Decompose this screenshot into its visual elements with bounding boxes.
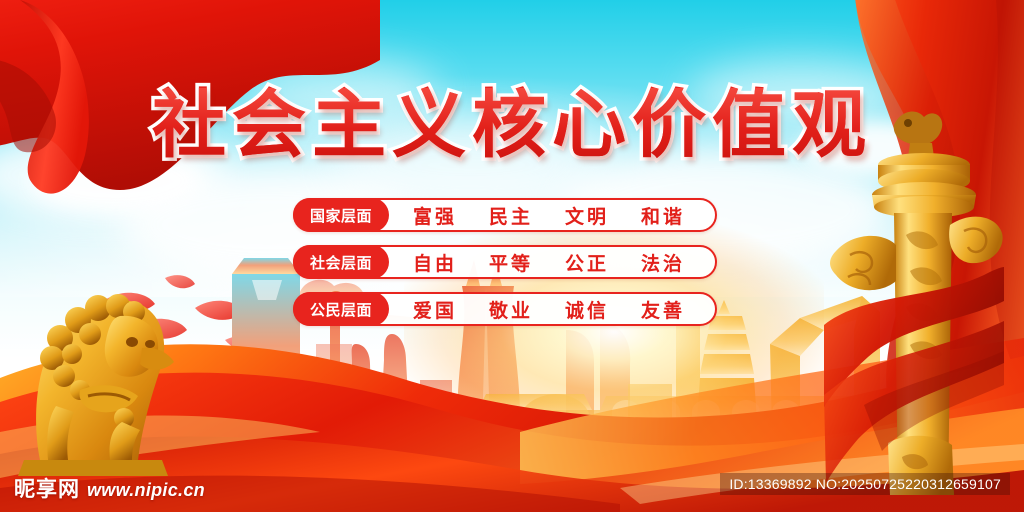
value-row-label: 公民层面 <box>293 292 389 326</box>
value-row-social[interactable]: 社会层面 自由 平等 公正 法治 <box>293 245 717 279</box>
value-item: 民主 <box>489 202 533 229</box>
guardian-lion-statue-icon <box>2 250 212 480</box>
value-item: 友善 <box>641 296 685 323</box>
core-values-list: 国家层面 富强 民主 文明 和谐 社会层面 自由 平等 公正 法治 公民层面 爱… <box>293 198 717 326</box>
value-item: 诚信 <box>565 296 609 323</box>
value-item: 自由 <box>413 249 457 276</box>
value-item: 爱国 <box>413 296 457 323</box>
value-item: 公正 <box>565 249 609 276</box>
value-row-citizen[interactable]: 公民层面 爱国 敬业 诚信 友善 <box>293 292 717 326</box>
watermark-brand: 昵享网 www.nipic.cn <box>14 473 205 503</box>
page-title: 社会主义核心价值观 <box>0 88 1024 162</box>
value-row-label: 社会层面 <box>293 245 389 279</box>
watermark-bar: 昵享网 www.nipic.cn ID:13369892 NO:20250725… <box>0 466 1024 512</box>
asset-id-text: ID:13369892 NO:20250725220312659107 <box>720 473 1010 495</box>
value-item: 和谐 <box>641 202 685 229</box>
value-item: 法治 <box>641 249 685 276</box>
poster-canvas: 社会主义核心价值观 社会主义核心价值观 国家层面 富强 民主 文明 和谐 社会层… <box>0 0 1024 512</box>
value-row-label: 国家层面 <box>293 198 389 232</box>
value-row-national[interactable]: 国家层面 富强 民主 文明 和谐 <box>293 198 717 232</box>
site-url: www.nipic.cn <box>87 480 205 501</box>
value-items: 富强 民主 文明 和谐 <box>391 202 715 229</box>
value-item: 文明 <box>565 202 609 229</box>
value-items: 爱国 敬业 诚信 友善 <box>391 296 715 323</box>
value-item: 富强 <box>413 202 457 229</box>
value-item: 平等 <box>489 249 533 276</box>
site-logo: 昵享网 <box>14 473 80 503</box>
value-items: 自由 平等 公正 法治 <box>391 249 715 276</box>
value-item: 敬业 <box>489 296 533 323</box>
